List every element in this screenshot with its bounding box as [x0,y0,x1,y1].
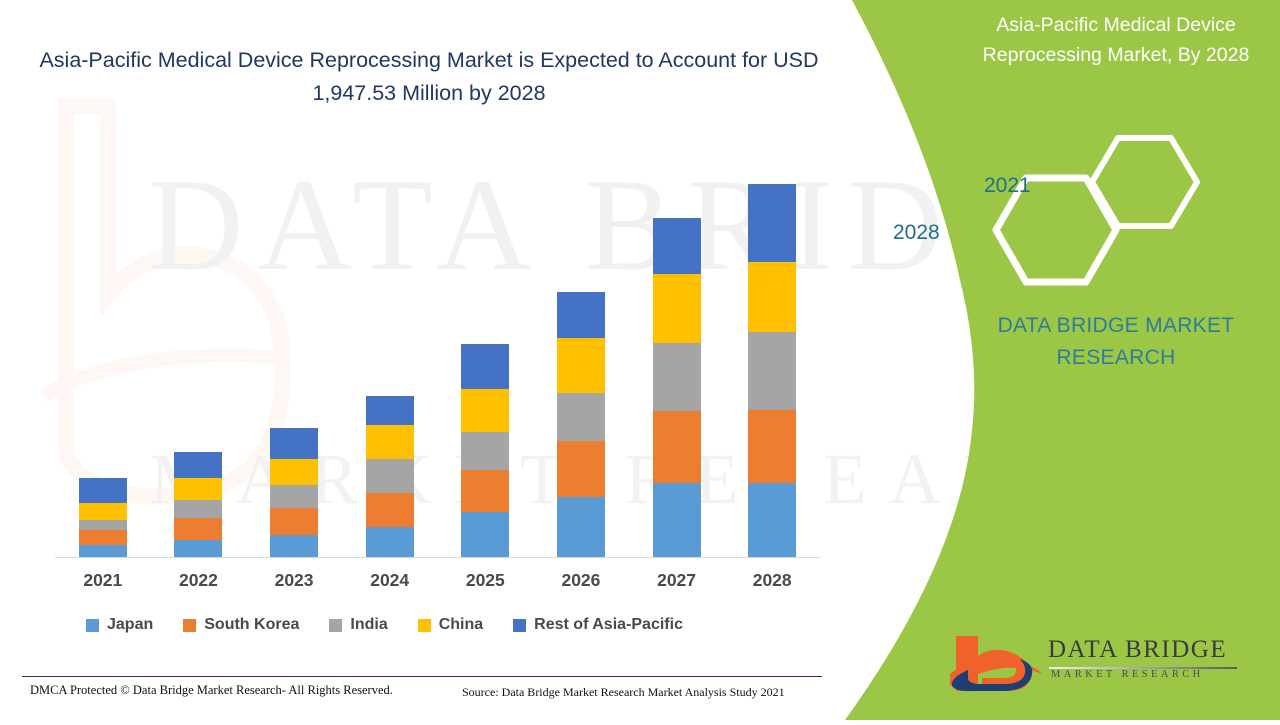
bar-stack [366,396,414,557]
bar-segment [270,485,318,508]
panel-title: Asia-Pacific Medical Device Reprocessing… [966,10,1266,70]
footer-divider [22,676,822,677]
bar-segment [79,530,127,545]
bar-segment [653,274,701,343]
x-axis-tick-label: 2026 [533,570,629,591]
bar-segment [557,292,605,338]
bar-segment [653,483,701,557]
bar-segment [366,425,414,459]
logo-subtitle: MARKET RESEARCH [1051,669,1204,680]
bar-segment [461,389,509,432]
logo-title: DATA BRIDGE [1048,636,1227,664]
bar-segment [366,493,414,527]
legend-label: India [350,616,387,634]
bar-stack [748,184,796,557]
bar-segment [653,218,701,274]
x-axis-tick-label: 2028 [724,570,820,591]
bar-segment [748,262,796,332]
bar-segment [79,520,127,530]
hexagon-label-2028: 2028 [893,221,940,245]
x-axis-tick-label: 2023 [246,570,342,591]
bar-segment [557,393,605,441]
bar-segment [79,478,127,503]
legend-swatch-icon [183,619,196,632]
bar-segment [748,332,796,410]
footer-source: Source: Data Bridge Market Research Mark… [462,685,785,700]
x-axis-tick-label: 2024 [342,570,438,591]
legend-item: Rest of Asia-Pacific [513,616,683,634]
bar-segment [270,428,318,459]
bar-segment [461,512,509,557]
bar-stack [79,478,127,557]
legend-label: Rest of Asia-Pacific [534,616,683,634]
legend-item: Japan [86,616,153,634]
bar-segment [174,518,222,540]
bar-segment [557,338,605,393]
legend-swatch-icon [513,619,526,632]
chart-plot-area [55,150,820,558]
bar-segment [174,478,222,500]
bar-segment [270,459,318,485]
footer-copyright: DMCA Protected © Data Bridge Market Rese… [30,683,393,698]
x-axis-line [55,557,820,558]
bar-segment [748,410,796,483]
chart-legend: JapanSouth KoreaIndiaChinaRest of Asia-P… [86,616,683,634]
bar-segment [366,459,414,493]
legend-swatch-icon [86,619,99,632]
bar-stack [270,428,318,557]
bar-segment [557,497,605,557]
x-axis-tick-label: 2022 [151,570,247,591]
legend-swatch-icon [418,619,431,632]
bar-segment [174,452,222,478]
bar-segment [174,500,222,518]
x-axis-tick-label: 2021 [55,570,151,591]
chart-title: Asia-Pacific Medical Device Reprocessing… [34,44,824,110]
bar-segment [270,508,318,535]
legend-item: South Korea [183,616,299,634]
logo-b-mark-icon [948,634,1044,692]
bar-stack [557,292,605,557]
bar-stack [653,218,701,557]
hexagon-label-2021: 2021 [984,174,1031,198]
bar-segment [653,411,701,483]
legend-label: China [439,616,483,634]
x-axis-tick-label: 2027 [629,570,725,591]
infographic-canvas: DATA BRIDGE MARKET RESEARCH Asia-Pacific… [0,0,1280,720]
brand-panel-content: Asia-Pacific Medical Device Reprocessing… [840,0,1280,720]
brand-name-line-1: DATA BRIDGE MARKET [966,310,1266,342]
bar-segment [79,503,127,520]
x-axis-tick-label: 2025 [438,570,534,591]
bar-segment [748,184,796,262]
bar-segment [557,441,605,497]
bar-segment [79,545,127,557]
bar-stack [461,344,509,557]
brand-name-line-2: RESEARCH [966,342,1266,374]
legend-label: Japan [107,616,153,634]
bar-segment [461,432,509,470]
bar-segment [270,535,318,557]
hexagon-outlines [988,132,1218,292]
hexagon-group [988,132,1218,292]
bar-segment [174,540,222,557]
x-axis-tick-labels: 20212022202320242025202620272028 [55,570,820,598]
bar-stack [174,452,222,557]
company-logo: DATA BRIDGE MARKET RESEARCH [948,634,1248,694]
legend-item: India [329,616,387,634]
legend-swatch-icon [329,619,342,632]
legend-item: China [418,616,483,634]
bar-segment [366,527,414,557]
brand-name: DATA BRIDGE MARKET RESEARCH [966,310,1266,374]
bar-segment [461,344,509,389]
bar-segment [653,343,701,411]
bar-segment [366,396,414,425]
bar-segment [461,470,509,512]
legend-label: South Korea [204,616,299,634]
bar-segment [748,483,796,557]
